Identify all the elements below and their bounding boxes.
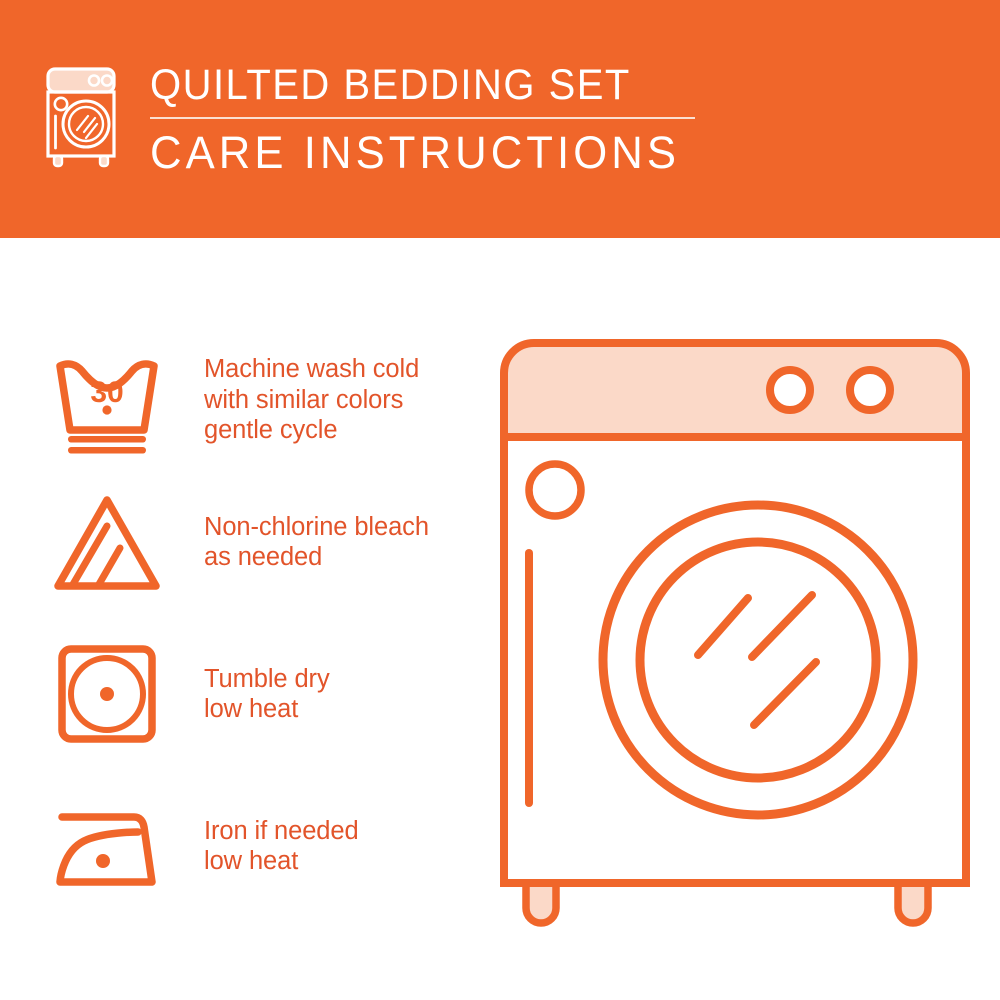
iron-heat-dot xyxy=(96,854,110,868)
bleach-triangle-icon xyxy=(46,486,168,598)
care-item-tumble-dry: Tumble dry low heat xyxy=(46,638,330,750)
care-item-label: Tumble dry low heat xyxy=(204,664,330,725)
washing-machine-illustration xyxy=(490,325,980,945)
care-item-wash: 30 Machine wash cold with similar colors… xyxy=(46,344,419,456)
care-item-bleach: Non-chlorine bleach as needed xyxy=(46,486,429,598)
page-title: QUILTED BEDDING SET xyxy=(150,62,658,108)
wash-tub-icon: 30 xyxy=(46,344,168,456)
care-item-label: Iron if needed low heat xyxy=(204,816,359,877)
knob-right[interactable] xyxy=(850,370,890,410)
indicator-light xyxy=(529,464,581,516)
wash-temperature-label: 30 xyxy=(90,376,123,409)
care-item-label: Machine wash cold with similar colors ge… xyxy=(204,354,419,446)
bleach-triangle-symbol xyxy=(46,486,168,598)
washing-machine-icon xyxy=(44,66,124,170)
iron-icon xyxy=(46,790,168,902)
care-item-iron: Iron if needed low heat xyxy=(46,790,359,902)
knob-left[interactable] xyxy=(770,370,810,410)
iron-symbol xyxy=(46,790,168,902)
header-title-group: QUILTED BEDDING SET CARE INSTRUCTIONS xyxy=(150,62,696,178)
title-divider xyxy=(150,117,695,119)
header-banner: QUILTED BEDDING SET CARE INSTRUCTIONS xyxy=(0,0,1000,238)
wash-dot xyxy=(102,405,111,414)
care-instruction-list: 30 Machine wash cold with similar colors… xyxy=(0,238,470,1000)
door-window[interactable] xyxy=(640,542,876,778)
page-subtitle: CARE INSTRUCTIONS xyxy=(150,128,680,178)
care-instructions-infographic: QUILTED BEDDING SET CARE INSTRUCTIONS 30 xyxy=(0,0,1000,1000)
wash-tub-symbol: 30 xyxy=(46,344,168,456)
tumble-dry-symbol xyxy=(46,638,168,750)
care-item-label: Non-chlorine bleach as needed xyxy=(204,512,429,573)
header-content: QUILTED BEDDING SET CARE INSTRUCTIONS xyxy=(44,62,696,178)
dryer-heat-dot xyxy=(100,687,114,701)
tumble-dry-icon xyxy=(46,638,168,750)
control-panel xyxy=(504,343,966,437)
